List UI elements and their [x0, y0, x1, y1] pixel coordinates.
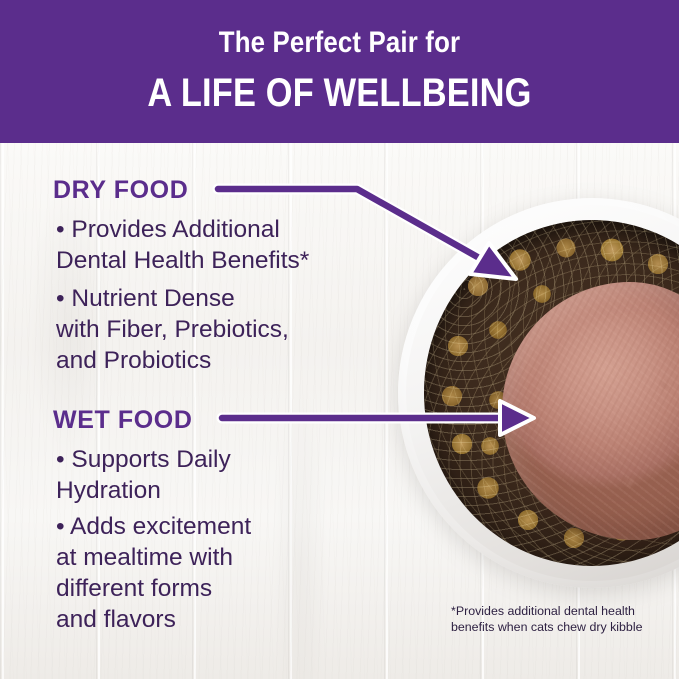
- dry-food-heading: DRY FOOD: [53, 176, 188, 205]
- dry-food-bullet-1: • Provides Additional Dental Health Bene…: [56, 214, 309, 276]
- wet-food-heading: WET FOOD: [53, 406, 193, 435]
- infographic-page: The Perfect Pair for A LIFE OF WELLBEING…: [0, 0, 679, 679]
- header-title-line-1: The Perfect Pair for: [48, 26, 632, 60]
- footnote-text: *Provides additional dental health benef…: [451, 604, 671, 635]
- bowl-outer-rim: [398, 198, 679, 588]
- pet-food-bowl-photo: [398, 198, 679, 588]
- wet-food-bullet-2: • Adds excitement at mealtime with diffe…: [56, 511, 251, 635]
- header-band: The Perfect Pair for A LIFE OF WELLBEING: [0, 0, 679, 143]
- header-title-line-2: A LIFE OF WELLBEING: [48, 70, 632, 116]
- dry-food-bullet-2: • Nutrient Dense with Fiber, Prebiotics,…: [56, 283, 289, 376]
- wet-food-bullet-1: • Supports Daily Hydration: [56, 444, 231, 506]
